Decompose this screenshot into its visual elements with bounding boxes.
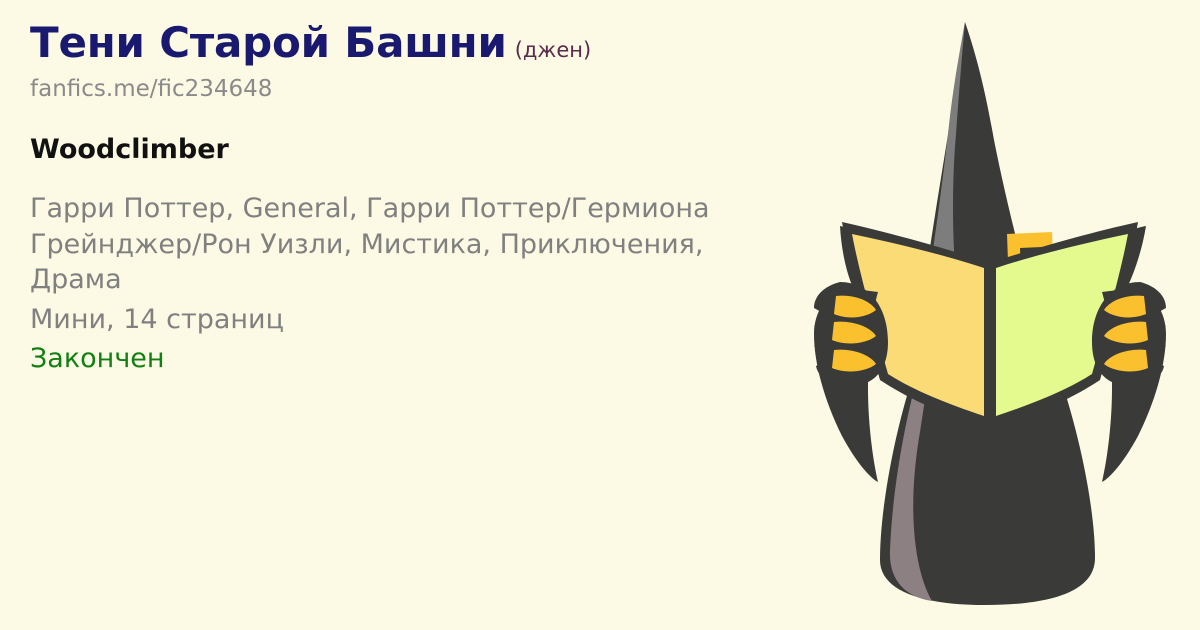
fic-size: Мини, 14 страниц — [30, 302, 790, 338]
fic-url[interactable]: fanfics.me/fic234648 — [30, 77, 790, 102]
fic-tags: Гарри Поттер, General, Гарри Поттер/Герм… — [30, 191, 742, 298]
fanfic-preview-card: Тени Старой Башни(джен) fanfics.me/fic23… — [0, 0, 1200, 630]
status-badge: Закончен — [30, 341, 790, 377]
title-row: Тени Старой Башни(джен) — [30, 22, 790, 64]
right-hand — [1092, 282, 1166, 482]
page-title: Тени Старой Башни — [30, 18, 507, 67]
fic-author[interactable]: Woodclimber — [30, 135, 790, 165]
fic-rating-label: (джен) — [515, 38, 591, 62]
book-spine — [986, 258, 994, 430]
text-column: Тени Старой Башни(джен) fanfics.me/fic23… — [30, 22, 790, 377]
left-hand — [814, 282, 888, 482]
witch-reading-book-illustration — [780, 0, 1200, 630]
